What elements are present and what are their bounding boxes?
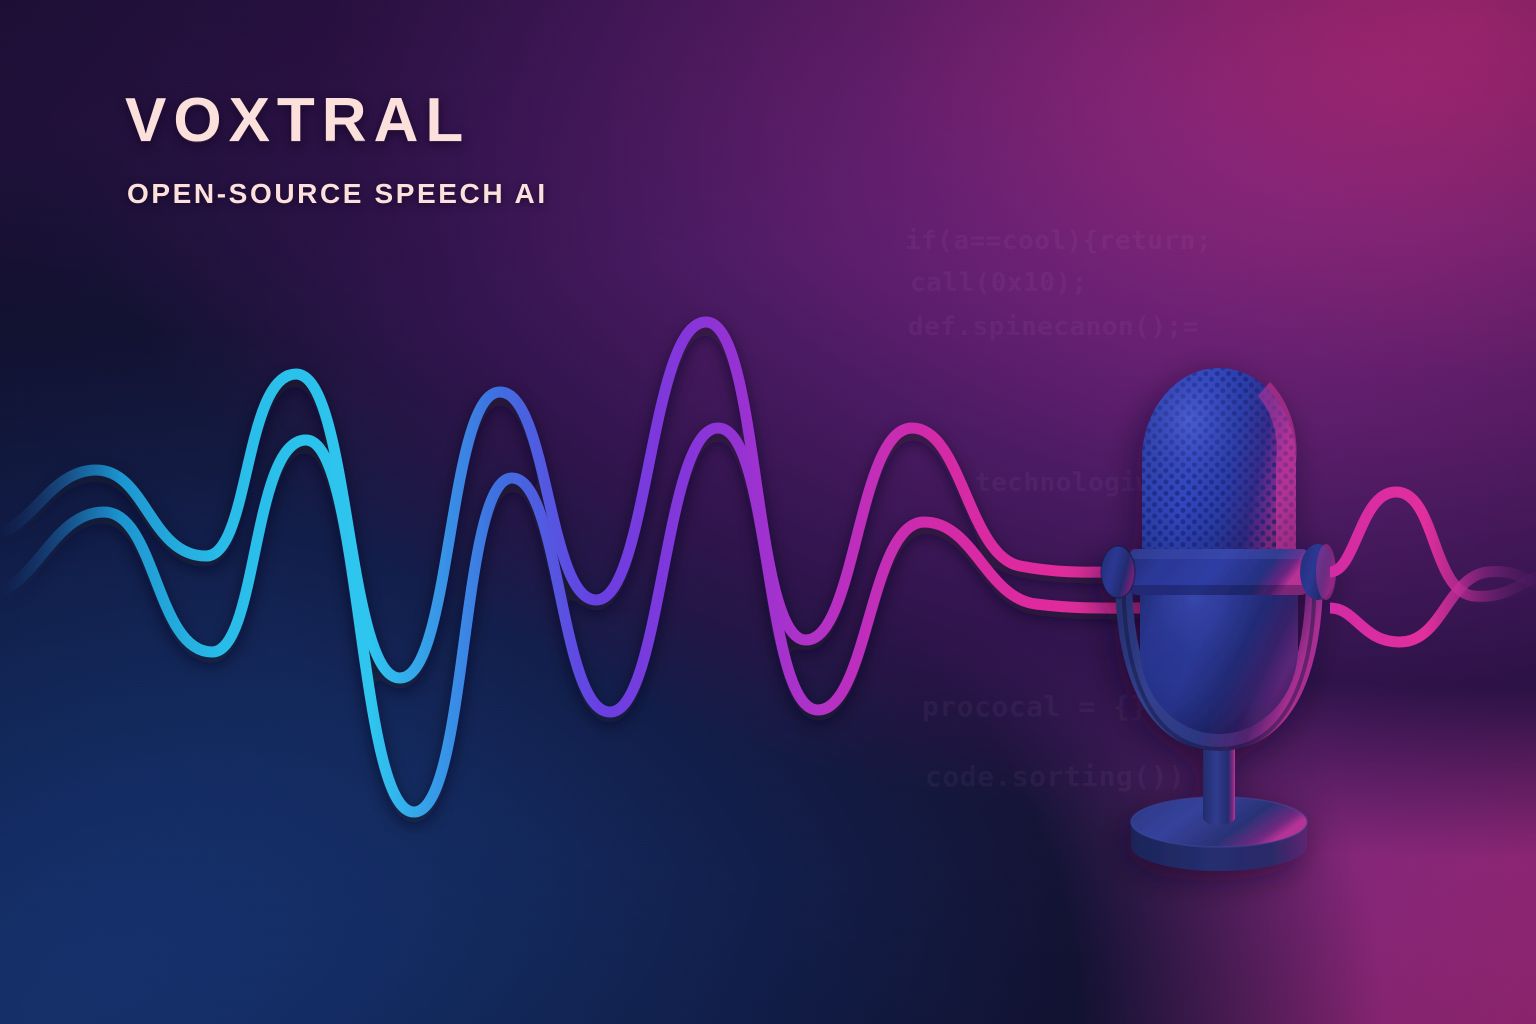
waveform-tail-lower xyxy=(1330,571,1536,642)
waveform-tail-upper xyxy=(1330,492,1536,596)
hero-banner: if(a==cool){return; call(0x10); def.spin… xyxy=(0,0,1536,1024)
waveform-tails xyxy=(0,0,1536,1024)
